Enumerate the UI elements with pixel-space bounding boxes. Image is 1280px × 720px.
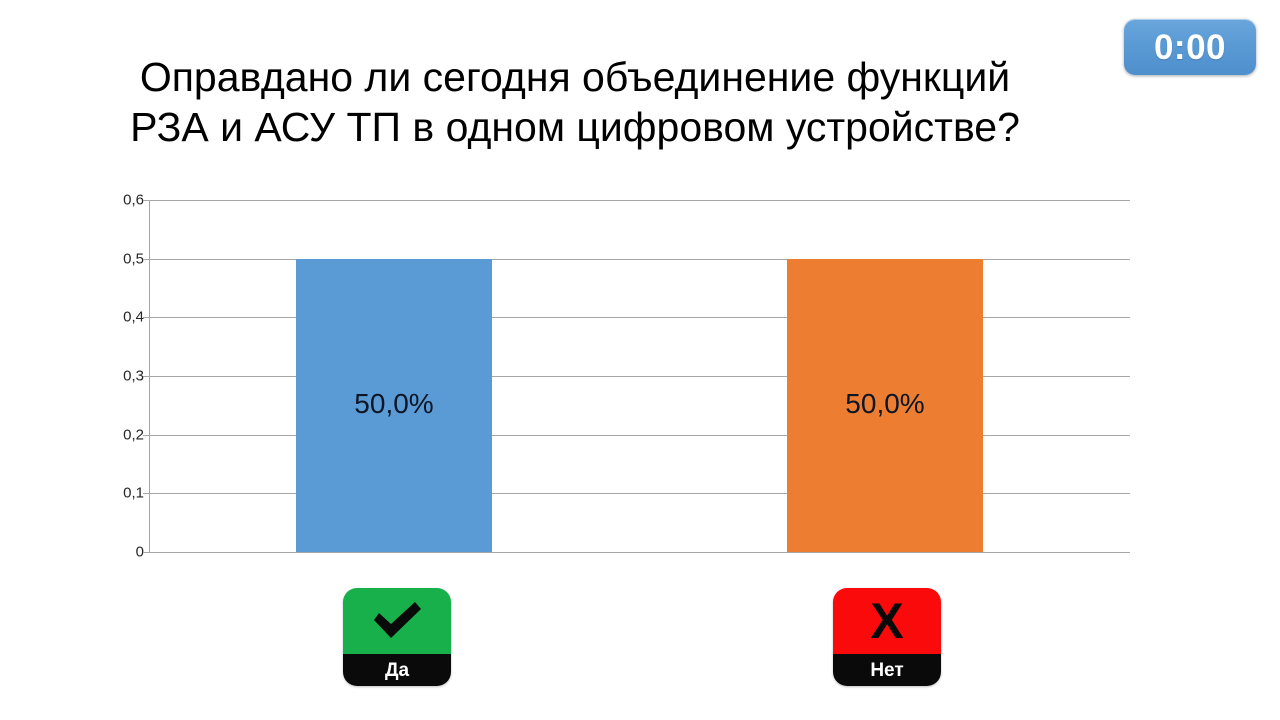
y-axis-tick <box>143 259 150 260</box>
gridline <box>149 552 1130 553</box>
y-axis-tick-label: 0,4 <box>88 309 144 326</box>
y-axis-tick-label: 0 <box>88 544 144 561</box>
y-axis-tick-label: 0,2 <box>88 426 144 443</box>
answer-label-strip-no: Нет <box>833 654 941 686</box>
y-axis-tick <box>143 435 150 436</box>
check-icon <box>369 600 425 642</box>
answer-button-no[interactable]: X Нет <box>833 588 941 686</box>
answer-label-yes: Да <box>385 661 409 680</box>
bar-value-label: 50,0% <box>787 388 983 420</box>
plot-area: 50,0%50,0% <box>149 200 1130 552</box>
y-axis-labels: 00,10,20,30,40,50,6 <box>88 180 144 555</box>
y-axis-tick-label: 0,1 <box>88 485 144 502</box>
y-axis-tick-label: 0,6 <box>88 192 144 209</box>
y-axis-tick <box>143 317 150 318</box>
y-axis-tick <box>143 200 150 201</box>
gridline <box>149 200 1130 201</box>
bar-да: 50,0% <box>296 259 492 552</box>
cross-icon: X <box>870 596 903 646</box>
y-axis-tick <box>143 552 150 553</box>
y-axis-tick-label: 0,3 <box>88 368 144 385</box>
poll-results-slide: 0:00 Оправдано ли сегодня объединение фу… <box>0 0 1280 720</box>
y-axis-tick-label: 0,5 <box>88 250 144 267</box>
bar-нет: 50,0% <box>787 259 983 552</box>
answer-label-no: Нет <box>870 661 903 680</box>
answer-icon-area-yes <box>343 588 451 654</box>
answer-label-strip-yes: Да <box>343 654 451 686</box>
bar-chart: 00,10,20,30,40,50,6 50,0%50,0% <box>0 180 1280 580</box>
page-title: Оправдано ли сегодня объединение функций… <box>0 52 1150 152</box>
timer-value: 0:00 <box>1154 30 1226 65</box>
bar-value-label: 50,0% <box>296 388 492 420</box>
answer-button-yes[interactable]: Да <box>343 588 451 686</box>
y-axis-tick <box>143 376 150 377</box>
y-axis-tick <box>143 493 150 494</box>
answer-icon-area-no: X <box>833 588 941 654</box>
